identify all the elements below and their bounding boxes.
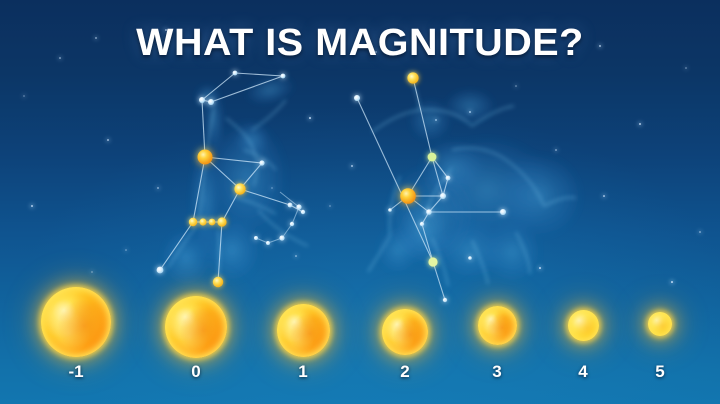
- magnitude-star-5[interactable]: [648, 312, 672, 336]
- orion-line-group: [160, 73, 303, 282]
- magnitude-label-4: 4: [553, 362, 613, 382]
- background-star: [107, 139, 109, 141]
- magnitude-star-3[interactable]: [478, 306, 517, 345]
- taurus-line-group: [357, 78, 503, 300]
- star-rim-glow: [648, 312, 672, 336]
- orion-shield-line-group: [256, 192, 299, 243]
- magnitude-label-2: 2: [375, 362, 435, 382]
- background-star: [435, 119, 436, 120]
- background-star: [685, 67, 687, 69]
- star-rim-glow: [41, 287, 111, 357]
- magnitude-label-3: 3: [467, 362, 527, 382]
- star-rim-glow: [382, 309, 428, 355]
- magnitude-star-2[interactable]: [382, 309, 428, 355]
- background-star: [555, 149, 557, 151]
- background-star: [671, 281, 673, 283]
- orion-star-group: [157, 71, 306, 288]
- background-star: [603, 195, 605, 197]
- background-star: [639, 123, 641, 125]
- magnitude-label-0: 0: [166, 362, 226, 382]
- magnitude-label--1: -1: [46, 362, 106, 382]
- background-star: [469, 111, 471, 113]
- background-star: [351, 165, 352, 166]
- magnitude-star-4[interactable]: [568, 310, 599, 341]
- background-star: [271, 187, 272, 188]
- star-rim-glow: [165, 296, 227, 358]
- star-rim-glow: [568, 310, 599, 341]
- taurus-figure-silhouette: [376, 88, 584, 284]
- background-star: [329, 205, 331, 207]
- background-star: [515, 85, 517, 87]
- taurus-star-group: [354, 72, 506, 302]
- taurus-figure-outline: [368, 74, 576, 286]
- orion-figure-outline: [168, 100, 308, 280]
- background-star: [91, 271, 92, 272]
- background-star: [295, 255, 297, 257]
- background-star: [23, 95, 25, 97]
- magnitude-star-0[interactable]: [165, 296, 227, 358]
- magnitude-star-1[interactable]: [277, 304, 330, 357]
- magnitude-infographic: WHAT IS MAGNITUDE? -1012345: [0, 0, 720, 404]
- background-star: [699, 231, 701, 233]
- star-rim-glow: [277, 304, 330, 357]
- star-rim-glow: [478, 306, 517, 345]
- magnitude-label-5: 5: [630, 362, 690, 382]
- background-star: [539, 267, 541, 269]
- background-star: [309, 117, 311, 119]
- page-title: WHAT IS MAGNITUDE?: [0, 22, 720, 65]
- magnitude-label-1: 1: [273, 362, 333, 382]
- background-star: [157, 187, 158, 188]
- orion-figure-silhouette: [160, 70, 476, 288]
- background-star: [125, 249, 127, 251]
- magnitude-star--1[interactable]: [41, 287, 111, 357]
- background-star: [31, 205, 33, 207]
